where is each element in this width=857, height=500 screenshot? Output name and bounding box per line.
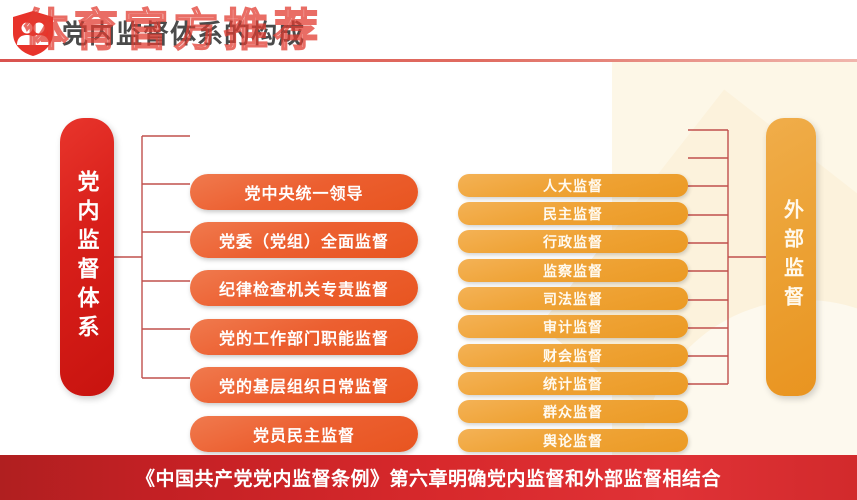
external-item-label: 统计监督 — [543, 374, 603, 394]
internal-item-label: 纪律检查机关专责监督 — [219, 276, 389, 300]
internal-item-label: 党的工作部门职能监督 — [219, 325, 389, 349]
internal-item-label: 党中央统一领导 — [244, 180, 363, 204]
external-supervision-pillar[interactable]: 外部监督 — [766, 118, 816, 396]
internal-supervision-pillar[interactable]: 党内监督体系 — [60, 118, 114, 396]
slide-header: 党内监督体系的构成 — [0, 0, 857, 62]
external-item-label: 审计监督 — [543, 317, 603, 337]
external-item-4[interactable]: 司法监督 — [458, 287, 688, 310]
internal-item-label: 党委（党组）全面监督 — [219, 228, 389, 252]
internal-supervision-pillar-label: 党内监督体系 — [75, 170, 98, 344]
external-item-0[interactable]: 人大监督 — [458, 174, 688, 197]
org-diagram: 党内监督体系 党中央统一领导 党委（党组）全面监督 纪律检查机关专责监督 党的工… — [0, 62, 857, 447]
external-item-label: 司法监督 — [543, 289, 603, 309]
internal-item-2[interactable]: 纪律检查机关专责监督 — [190, 270, 418, 306]
footer-caption-text: 《中国共产党党内监督条例》第六章明确党内监督和外部监督相结合 — [136, 464, 721, 491]
external-item-1[interactable]: 民主监督 — [458, 202, 688, 225]
internal-item-5[interactable]: 党员民主监督 — [190, 416, 418, 452]
external-item-5[interactable]: 审计监督 — [458, 315, 688, 338]
internal-item-label: 党的基层组织日常监督 — [219, 373, 389, 397]
internal-item-label: 党员民主监督 — [253, 422, 355, 446]
external-item-6[interactable]: 财会监督 — [458, 344, 688, 367]
external-item-2[interactable]: 行政监督 — [458, 230, 688, 253]
external-item-label: 民主监督 — [543, 204, 603, 224]
footer-caption-bar: 《中国共产党党内监督条例》第六章明确党内监督和外部监督相结合 — [0, 455, 857, 500]
external-item-3[interactable]: 监察监督 — [458, 259, 688, 282]
internal-item-0[interactable]: 党中央统一领导 — [190, 174, 418, 210]
header-divider — [0, 59, 857, 62]
internal-item-4[interactable]: 党的基层组织日常监督 — [190, 367, 418, 403]
internal-item-1[interactable]: 党委（党组）全面监督 — [190, 222, 418, 258]
external-item-9[interactable]: 舆论监督 — [458, 429, 688, 452]
internal-items-column: 党中央统一领导 党委（党组）全面监督 纪律检查机关专责监督 党的工作部门职能监督… — [190, 118, 418, 396]
external-item-label: 财会监督 — [543, 346, 603, 366]
external-item-label: 人大监督 — [543, 176, 603, 196]
external-item-label: 群众监督 — [543, 402, 603, 422]
connector-lines — [0, 62, 857, 447]
external-supervision-pillar-label: 外部监督 — [781, 199, 802, 315]
external-item-label: 舆论监督 — [543, 431, 603, 451]
internal-item-3[interactable]: 党的工作部门职能监督 — [190, 319, 418, 355]
shield-people-icon — [10, 9, 56, 57]
page-title: 党内监督体系的构成 — [62, 14, 305, 51]
external-item-8[interactable]: 群众监督 — [458, 400, 688, 423]
external-item-7[interactable]: 统计监督 — [458, 372, 688, 395]
external-item-label: 行政监督 — [543, 232, 603, 252]
external-items-column: 人大监督 民主监督 行政监督 监察监督 司法监督 审计监督 财会监督 统计监督 … — [458, 118, 688, 396]
external-item-label: 监察监督 — [543, 261, 603, 281]
slide-root: 党内监督体系的构成 体育官方推荐 — [0, 0, 857, 500]
